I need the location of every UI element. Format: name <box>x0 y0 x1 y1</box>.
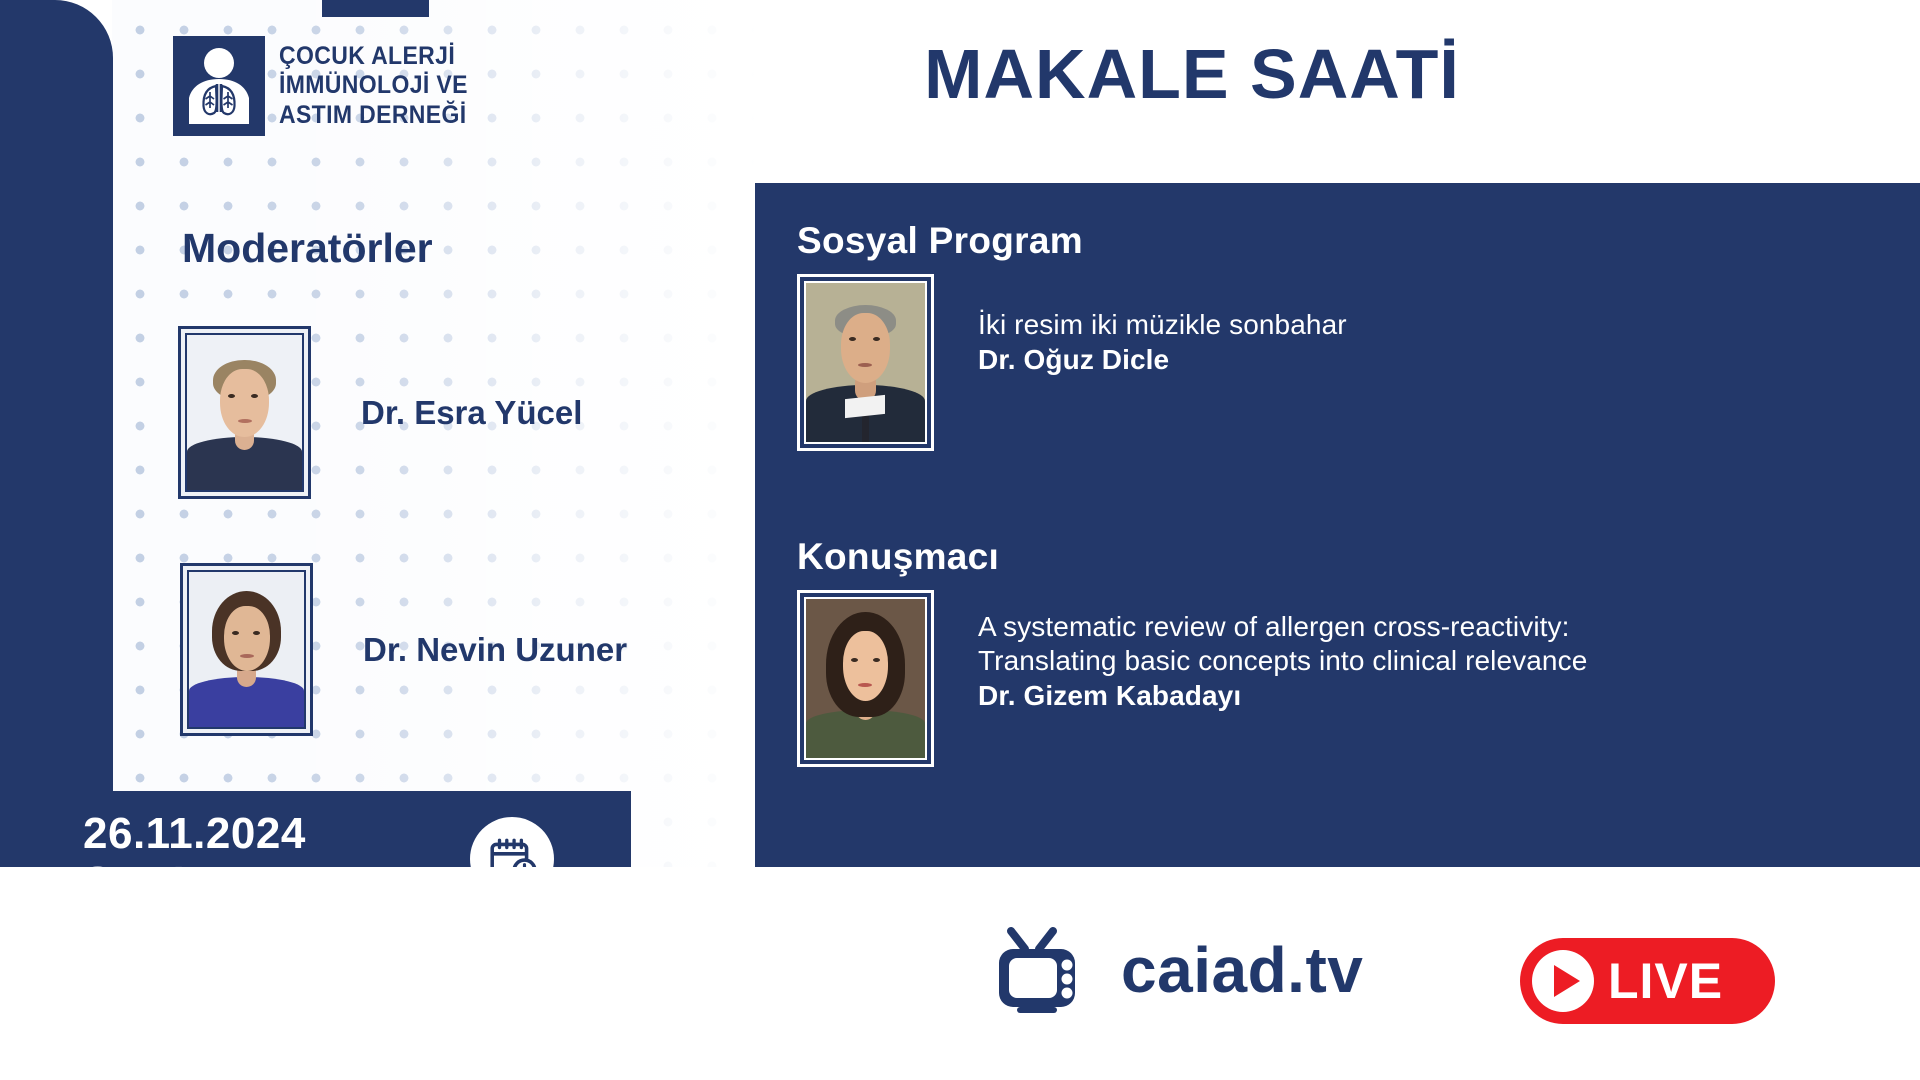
moderators-heading: Moderatörler <box>182 225 433 272</box>
section-heading-social-program: Sosyal Program <box>797 220 1083 262</box>
live-badge[interactable]: LIVE <box>1520 938 1775 1024</box>
logo-text-block: ÇOCUK ALERJİ İMMÜNOLOJİ VE ASTIM DERNEĞİ <box>279 42 468 130</box>
program-entry-text: İki resim iki müzikle sonbahar Dr. Oğuz … <box>978 274 1347 376</box>
moderator-name: Dr. Nevin Uzuner <box>363 631 627 669</box>
program-entry-person: Dr. Oğuz Dicle <box>978 344 1347 376</box>
moderator-photo-nevin-uzuner <box>180 563 313 736</box>
play-icon <box>1532 950 1594 1012</box>
brand-row[interactable]: caiad.tv <box>995 925 1363 1015</box>
section-heading-speaker: Konuşmacı <box>797 536 999 578</box>
program-entry-title: İki resim iki müzikle sonbahar <box>978 308 1347 342</box>
logo-line-2: İMMÜNOLOJİ VE <box>279 71 468 100</box>
moderator-name: Dr. Esra Yücel <box>361 394 582 432</box>
program-entry-speaker: A systematic review of allergen cross-re… <box>797 590 1587 767</box>
brand-name: caiad.tv <box>1121 938 1363 1002</box>
event-date: 26.11.2024 <box>83 809 306 858</box>
program-panel: Sosyal Program <box>755 183 1920 867</box>
program-entry-title-line-2: Translating basic concepts into clinical… <box>978 644 1587 678</box>
program-entry-person: Dr. Gizem Kabadayı <box>978 680 1587 712</box>
logo-line-3: ASTIM DERNEĞİ <box>279 101 468 130</box>
retro-tv-icon <box>995 925 1099 1015</box>
live-label: LIVE <box>1608 952 1723 1010</box>
program-entry-text: A systematic review of allergen cross-re… <box>978 590 1587 712</box>
program-entry-social: İki resim iki müzikle sonbahar Dr. Oğuz … <box>797 274 1347 451</box>
top-navy-tab <box>322 0 429 17</box>
program-entry-title-line-1: A systematic review of allergen cross-re… <box>978 610 1587 644</box>
logo-line-1: ÇOCUK ALERJİ <box>279 42 468 71</box>
poster-canvas: ÇOCUK ALERJİ İMMÜNOLOJİ VE ASTIM DERNEĞİ… <box>0 0 1920 1080</box>
child-lungs-icon <box>173 36 265 136</box>
moderator-photo-esra-yucel <box>178 326 311 499</box>
speaker-photo-gizem-kabadayi <box>797 590 934 767</box>
page-title: MAKALE SAATİ <box>752 38 1632 112</box>
association-logo: ÇOCUK ALERJİ İMMÜNOLOJİ VE ASTIM DERNEĞİ <box>173 36 484 136</box>
moderator-item: Dr. Esra Yücel <box>178 326 582 499</box>
moderator-item: Dr. Nevin Uzuner <box>180 563 627 736</box>
speaker-photo-oguz-dicle <box>797 274 934 451</box>
